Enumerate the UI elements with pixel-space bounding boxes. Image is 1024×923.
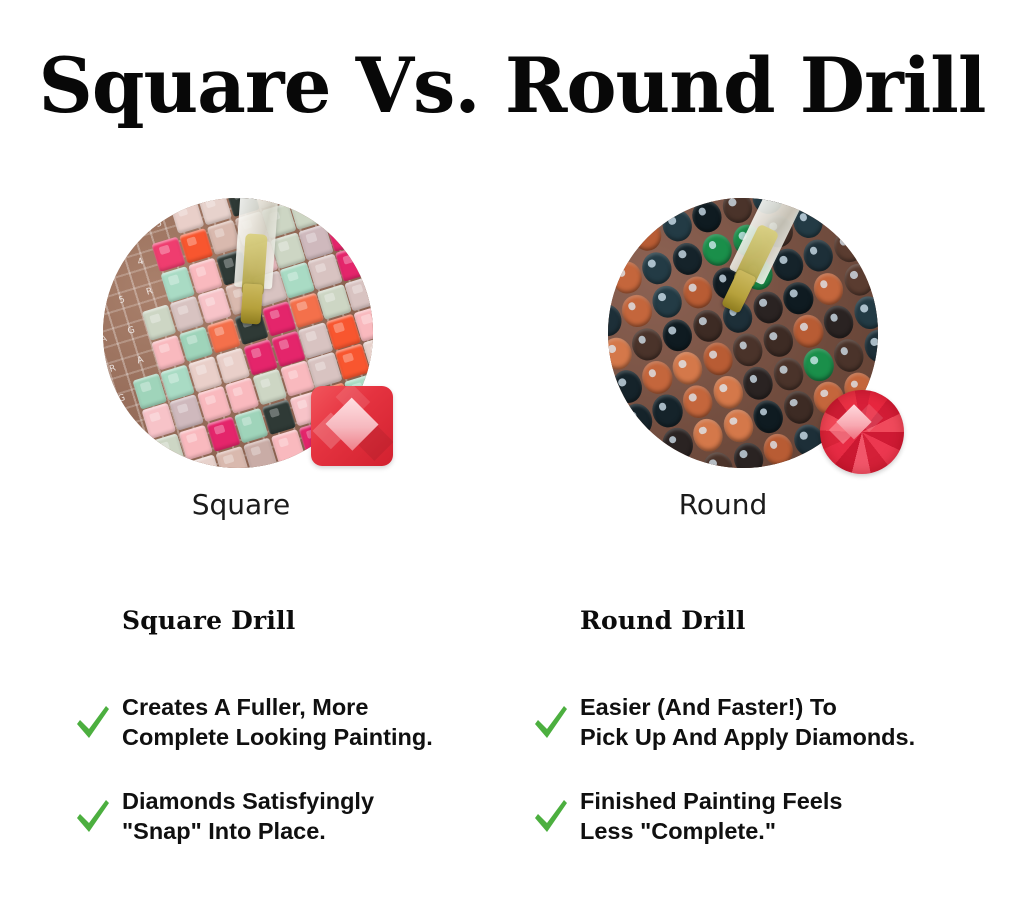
drill-cell xyxy=(658,206,695,246)
drill-cell xyxy=(729,330,766,370)
round-gem-icon xyxy=(820,390,904,474)
drill-cell xyxy=(850,198,878,224)
drill-cell xyxy=(639,358,676,398)
drill-cell xyxy=(669,349,706,389)
drill-cell xyxy=(689,306,726,346)
drill-cell xyxy=(740,364,777,404)
drill-cell xyxy=(800,345,837,385)
drill-cell xyxy=(780,278,817,318)
drill-cell xyxy=(659,315,696,355)
square-drill-bullets: Creates A Fuller, More Complete Looking … xyxy=(122,692,522,846)
check-icon xyxy=(532,795,570,837)
drill-cell xyxy=(689,198,726,236)
round-drill-column: Round Drill Easier (And Faster!) To Pick… xyxy=(580,606,1000,880)
drill-cell xyxy=(628,215,665,255)
drill-cell xyxy=(830,227,867,267)
list-item-label: Creates A Fuller, More Complete Looking … xyxy=(122,692,433,752)
drill-cell xyxy=(608,367,645,407)
check-icon xyxy=(74,795,112,837)
drill-cell xyxy=(780,388,817,428)
drill-cell xyxy=(619,401,656,441)
drill-cell xyxy=(659,425,696,465)
square-gem-icon xyxy=(311,386,393,466)
drill-cell xyxy=(820,198,857,233)
check-icon xyxy=(532,701,570,743)
square-photo-caption: Square xyxy=(96,487,386,523)
canvas-symbol: E xyxy=(608,443,636,468)
list-item-label: Finished Painting Feels Less "Complete." xyxy=(580,786,842,846)
list-item: Easier (And Faster!) To Pick Up And Appl… xyxy=(580,692,1000,752)
pen-tip xyxy=(240,283,263,324)
square-drill-heading: Square Drill xyxy=(122,606,522,636)
drill-cell xyxy=(679,382,716,422)
drill-cell xyxy=(649,282,686,322)
drill-cell xyxy=(730,440,767,468)
drill-cell xyxy=(810,269,847,309)
drill-cell xyxy=(638,249,675,289)
square-drill-column: Square Drill Creates A Fuller, More Comp… xyxy=(122,606,522,880)
list-item: Finished Painting Feels Less "Complete." xyxy=(580,786,1000,846)
drill-cell xyxy=(709,373,746,413)
drill-cell xyxy=(700,449,737,468)
drill-cell xyxy=(720,406,757,446)
drill-cell xyxy=(618,198,655,222)
drill-cell xyxy=(820,302,857,342)
list-item-label: Diamonds Satisfyingly "Snap" Into Place. xyxy=(122,786,374,846)
drill-cell xyxy=(850,293,878,333)
drill-cell xyxy=(689,415,726,455)
list-item: Diamonds Satisfyingly "Snap" Into Place. xyxy=(122,786,522,846)
pen-tip xyxy=(721,269,757,314)
round-photo-caption: Round xyxy=(578,487,868,523)
round-drill-heading: Round Drill xyxy=(580,606,1000,636)
drill-cell xyxy=(699,339,736,379)
drill-cell xyxy=(760,321,797,361)
drill-cell xyxy=(629,325,666,365)
drill-cell xyxy=(608,258,645,298)
drill-cell xyxy=(790,312,827,352)
drill-cell xyxy=(629,434,666,468)
drill-cell xyxy=(840,260,877,300)
square-photo-panel: RGRY4Y5A55GY545A5RRAGRRAYG4AAG xyxy=(103,198,393,483)
drill-cell xyxy=(649,391,686,431)
drill-cell xyxy=(770,354,807,394)
page-title: Square Vs. Round Drill xyxy=(5,44,1019,128)
list-item-label: Easier (And Faster!) To Pick Up And Appl… xyxy=(580,692,915,752)
check-icon xyxy=(74,701,112,743)
drill-cell xyxy=(800,236,837,276)
list-item: Creates A Fuller, More Complete Looking … xyxy=(122,692,522,752)
round-drill-bullets: Easier (And Faster!) To Pick Up And Appl… xyxy=(580,692,1000,846)
drill-cell xyxy=(618,291,655,331)
round-photo-panel: FFEEFF xyxy=(608,198,898,483)
drill-cell xyxy=(750,397,787,437)
drill-cell xyxy=(830,336,867,376)
drill-cell xyxy=(679,273,716,313)
drill-cell xyxy=(760,430,797,468)
drill-cell xyxy=(669,239,706,279)
